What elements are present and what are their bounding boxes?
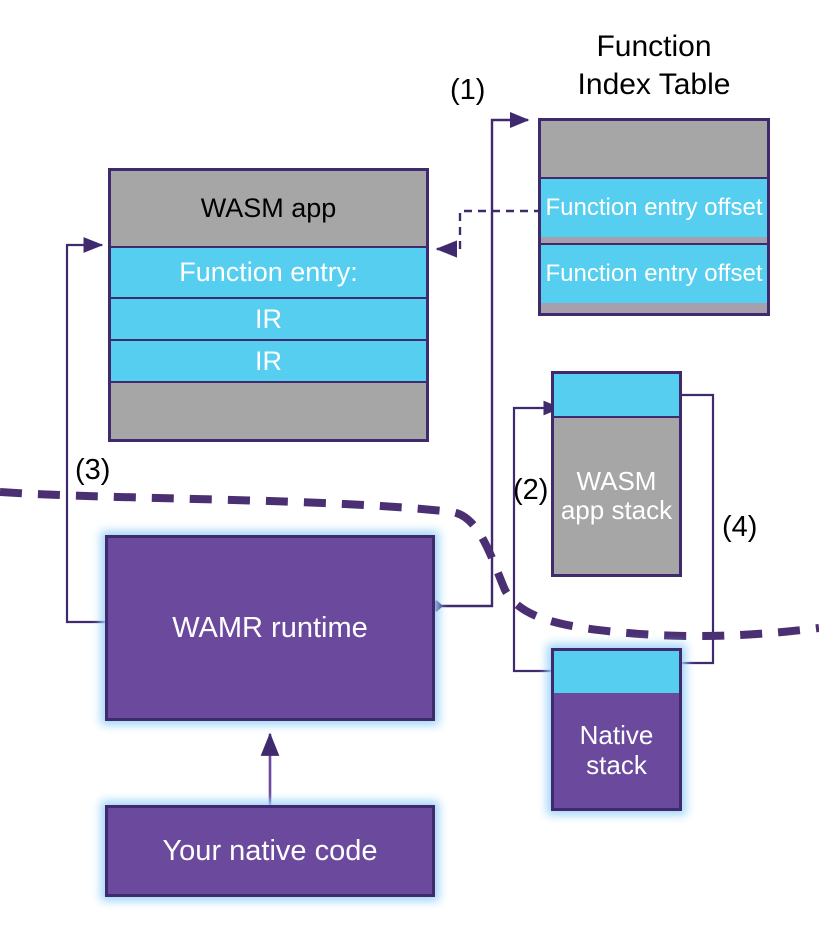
wasm-app-segment-header: WASM app [111, 171, 426, 246]
function-index-table-title-line1: Function [538, 28, 770, 66]
step-label-1: (1) [450, 74, 485, 107]
wasm-app-segment-function-entry-label: Function entry: [179, 257, 358, 287]
wasm-app-segment-function-entry: Function entry: [111, 246, 426, 299]
wasm-app-segment-ir-1: IR [111, 299, 426, 341]
function-index-table-row-2-label: Function entry offset [545, 261, 762, 288]
function-index-table-row-0 [541, 121, 767, 177]
step-label-4: (4) [722, 511, 757, 544]
wasm-app-segment-footer [111, 383, 426, 439]
wasm-app-stack-label-line2: app stack [561, 496, 672, 525]
wasm-app-stack-body: WASM app stack [554, 418, 679, 574]
native-code-label: Your native code [163, 835, 378, 868]
diagram-canvas: Function Index Table Function entry offs… [0, 0, 819, 925]
native-stack-label-line2: stack [586, 751, 647, 780]
wasm-app-block: WASM app Function entry: IR IR [108, 168, 429, 442]
step-label-3: (3) [75, 454, 110, 487]
function-index-table: Function entry offset Function entry off… [538, 118, 770, 316]
native-code-block: Your native code [105, 805, 435, 897]
function-index-table-row-2: Function entry offset [541, 243, 767, 303]
wasm-app-stack-label-line1: WASM [577, 467, 657, 496]
connector-1-runtime-to-index-table [430, 120, 528, 612]
connector-3-runtime-to-wasm-entry [67, 245, 108, 622]
function-index-table-title: Function Index Table [538, 28, 770, 105]
wasm-app-segment-ir-2: IR [111, 341, 426, 383]
native-stack-block: Native stack [551, 648, 682, 811]
wasm-app-segment-header-label: WASM app [201, 193, 337, 223]
wasm-app-stack-block: WASM app stack [551, 371, 682, 577]
function-index-table-row-1-label: Function entry offset [545, 195, 762, 222]
native-stack-label-line1: Native [580, 721, 654, 750]
wasm-app-segment-ir-2-label: IR [255, 346, 282, 376]
step-label-2: (2) [513, 474, 548, 507]
function-index-table-row-1: Function entry offset [541, 177, 767, 237]
function-index-table-title-line2: Index Table [538, 66, 770, 104]
wasm-app-segment-ir-1-label: IR [255, 304, 282, 334]
wasm-app-stack-top-band [554, 374, 679, 418]
native-stack-body: Native stack [554, 693, 679, 808]
wamr-runtime-label: WAMR runtime [172, 612, 368, 645]
native-stack-top-band [554, 651, 679, 693]
wamr-runtime-block: WAMR runtime [105, 535, 435, 721]
